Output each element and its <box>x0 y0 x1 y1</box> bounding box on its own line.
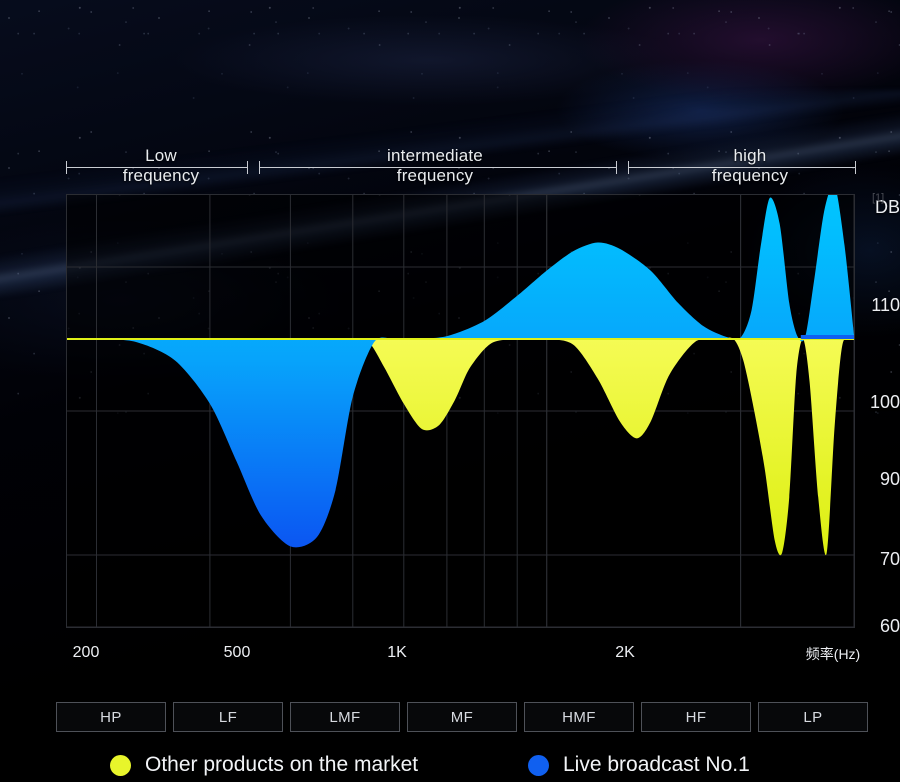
grid-lines <box>67 195 854 627</box>
eq-button-hp[interactable]: HP <box>56 702 166 732</box>
eq-button-mf[interactable]: MF <box>407 702 517 732</box>
eq-button-lf[interactable]: LF <box>173 702 283 732</box>
x-axis-title: 频率(Hz) <box>773 646 893 662</box>
plot-area <box>66 194 855 628</box>
x-tick-200: 200 <box>46 645 126 661</box>
response-curves-svg <box>67 195 854 627</box>
x-tick-500: 500 <box>197 645 277 661</box>
frequency-response-chart: DB 110 100 90 70 60 [1] <box>0 0 900 782</box>
chart-legend: Other products on the market Live broadc… <box>0 748 900 782</box>
legend-label-other-products: Other products on the market <box>145 753 418 777</box>
eq-button-lp[interactable]: LP <box>758 702 868 732</box>
eq-frequency-response-page: Lowfrequency intermediatefrequency highf… <box>0 0 900 782</box>
legend-item-other-products: Other products on the market <box>110 753 418 777</box>
x-tick-1k: 1K <box>357 645 437 661</box>
legend-label-live-broadcast: Live broadcast No.1 <box>563 753 750 777</box>
eq-button-hf[interactable]: HF <box>641 702 751 732</box>
legend-item-live-broadcast: Live broadcast No.1 <box>528 753 750 777</box>
eq-button-lmf[interactable]: LMF <box>290 702 400 732</box>
legend-dot-blue-icon <box>528 755 549 776</box>
reference-mark: [1] <box>872 192 884 204</box>
curve-areas <box>67 195 854 555</box>
eq-band-button-group: HPLFLMFMFHMFHFLP <box>56 702 868 732</box>
legend-dot-yellow-icon <box>110 755 131 776</box>
eq-button-hmf[interactable]: HMF <box>524 702 634 732</box>
x-tick-2k: 2K <box>585 645 665 661</box>
